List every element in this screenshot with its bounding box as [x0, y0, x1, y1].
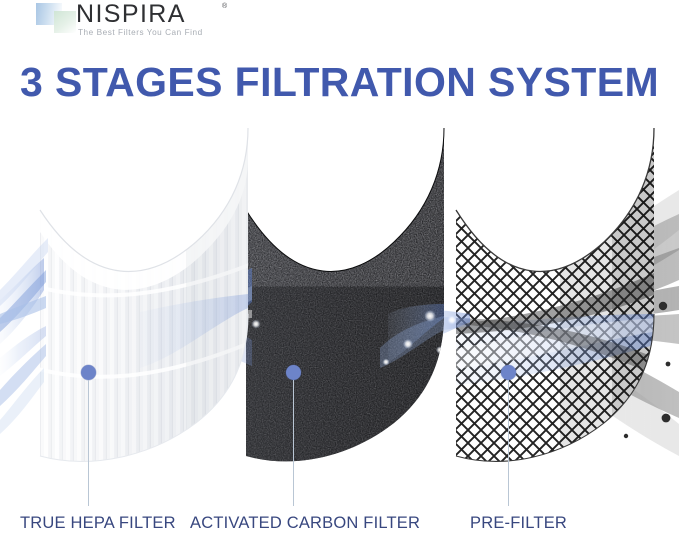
page-title: 3 STAGES FILTRATION SYSTEM	[0, 58, 679, 106]
callout-dot-true-hepa-filter[interactable]	[81, 365, 96, 380]
callout-label-true-hepa-filter: TRUE HEPA FILTER	[20, 513, 176, 533]
callout-label-pre-filter: PRE-FILTER	[470, 513, 567, 533]
brand-name: NISPIRA	[76, 1, 186, 28]
callout-dot-activated-carbon-filter[interactable]	[286, 365, 301, 380]
brand-logo: NISPIRA ® The Best Filters You Can Find	[36, 0, 256, 42]
logo-green-square	[54, 11, 76, 33]
callout-line-activated-carbon-filter	[293, 380, 294, 506]
callout-label-activated-carbon-filter: ACTIVATED CARBON FILTER	[190, 513, 420, 533]
registered-trademark-icon: ®	[222, 3, 227, 10]
callout-line-true-hepa-filter	[88, 380, 89, 506]
filtration-diagram	[0, 118, 679, 498]
activated-carbon-panel	[240, 118, 450, 478]
gradient-square-logo-icon	[36, 3, 76, 33]
true-hepa-panel	[34, 118, 252, 478]
brand-tagline: The Best Filters You Can Find	[78, 28, 203, 38]
callout-dot-pre-filter[interactable]	[501, 365, 516, 380]
callout-line-pre-filter	[508, 380, 509, 506]
filter-stack-illustration	[0, 118, 679, 498]
infographic-canvas: NISPIRA ® The Best Filters You Can Find …	[0, 0, 679, 537]
